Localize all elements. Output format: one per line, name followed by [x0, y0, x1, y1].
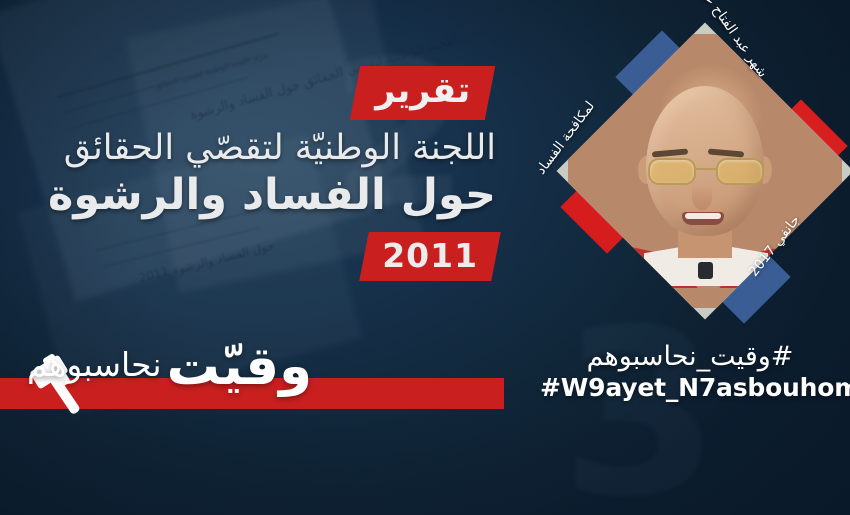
report-badge: تقرير	[350, 66, 496, 120]
hashtag-block: #وقيت_نحاسبوهم #W9ayet_N7asbouhom	[540, 341, 840, 403]
year-badge-label: 2011	[382, 239, 478, 272]
portrait-lens-left	[648, 158, 696, 185]
page-title-line-1: اللجنة الوطنيّة لتقصّي الحقائق	[0, 129, 496, 169]
report-badge-label: تقرير	[375, 74, 470, 109]
portrait-photo-inner	[568, 34, 842, 308]
year-badge: 2011	[359, 232, 500, 281]
poster-canvas: اللجنة الوطنية لتقصي الحقائق حول الفساد …	[0, 0, 850, 515]
slogan-word-secondary: نحاسبوهم	[27, 345, 162, 384]
slogan-word-main: وقيّت	[167, 336, 312, 397]
portrait-photo	[557, 23, 850, 320]
page-title-line-2: حول الفساد والرشوة	[0, 171, 496, 220]
portrait-face	[630, 86, 780, 276]
background-ghost-digit-2: 3	[560, 300, 726, 515]
hashtag-latin[interactable]: #W9ayet_N7asbouhom	[540, 373, 840, 403]
portrait-teeth	[685, 213, 721, 219]
hashtag-arabic[interactable]: #وقيت_نحاسبوهم	[540, 341, 840, 373]
portrait-nose	[692, 184, 712, 210]
portrait-glasses-bridge	[696, 168, 716, 170]
portrait-glasses	[646, 158, 766, 186]
portrait-tie	[698, 262, 713, 279]
headline-block: تقرير اللجنة الوطنيّة لتقصّي الحقائق حول…	[0, 66, 520, 281]
portrait-emblem: شهر عبد الفتاح عمر لمكافحة الفساد جانفي …	[556, 26, 850, 320]
portrait-lens-right	[716, 158, 764, 185]
slogan-text: وقيّت نحاسبوهم	[0, 340, 500, 393]
portrait-mouth	[682, 212, 724, 225]
